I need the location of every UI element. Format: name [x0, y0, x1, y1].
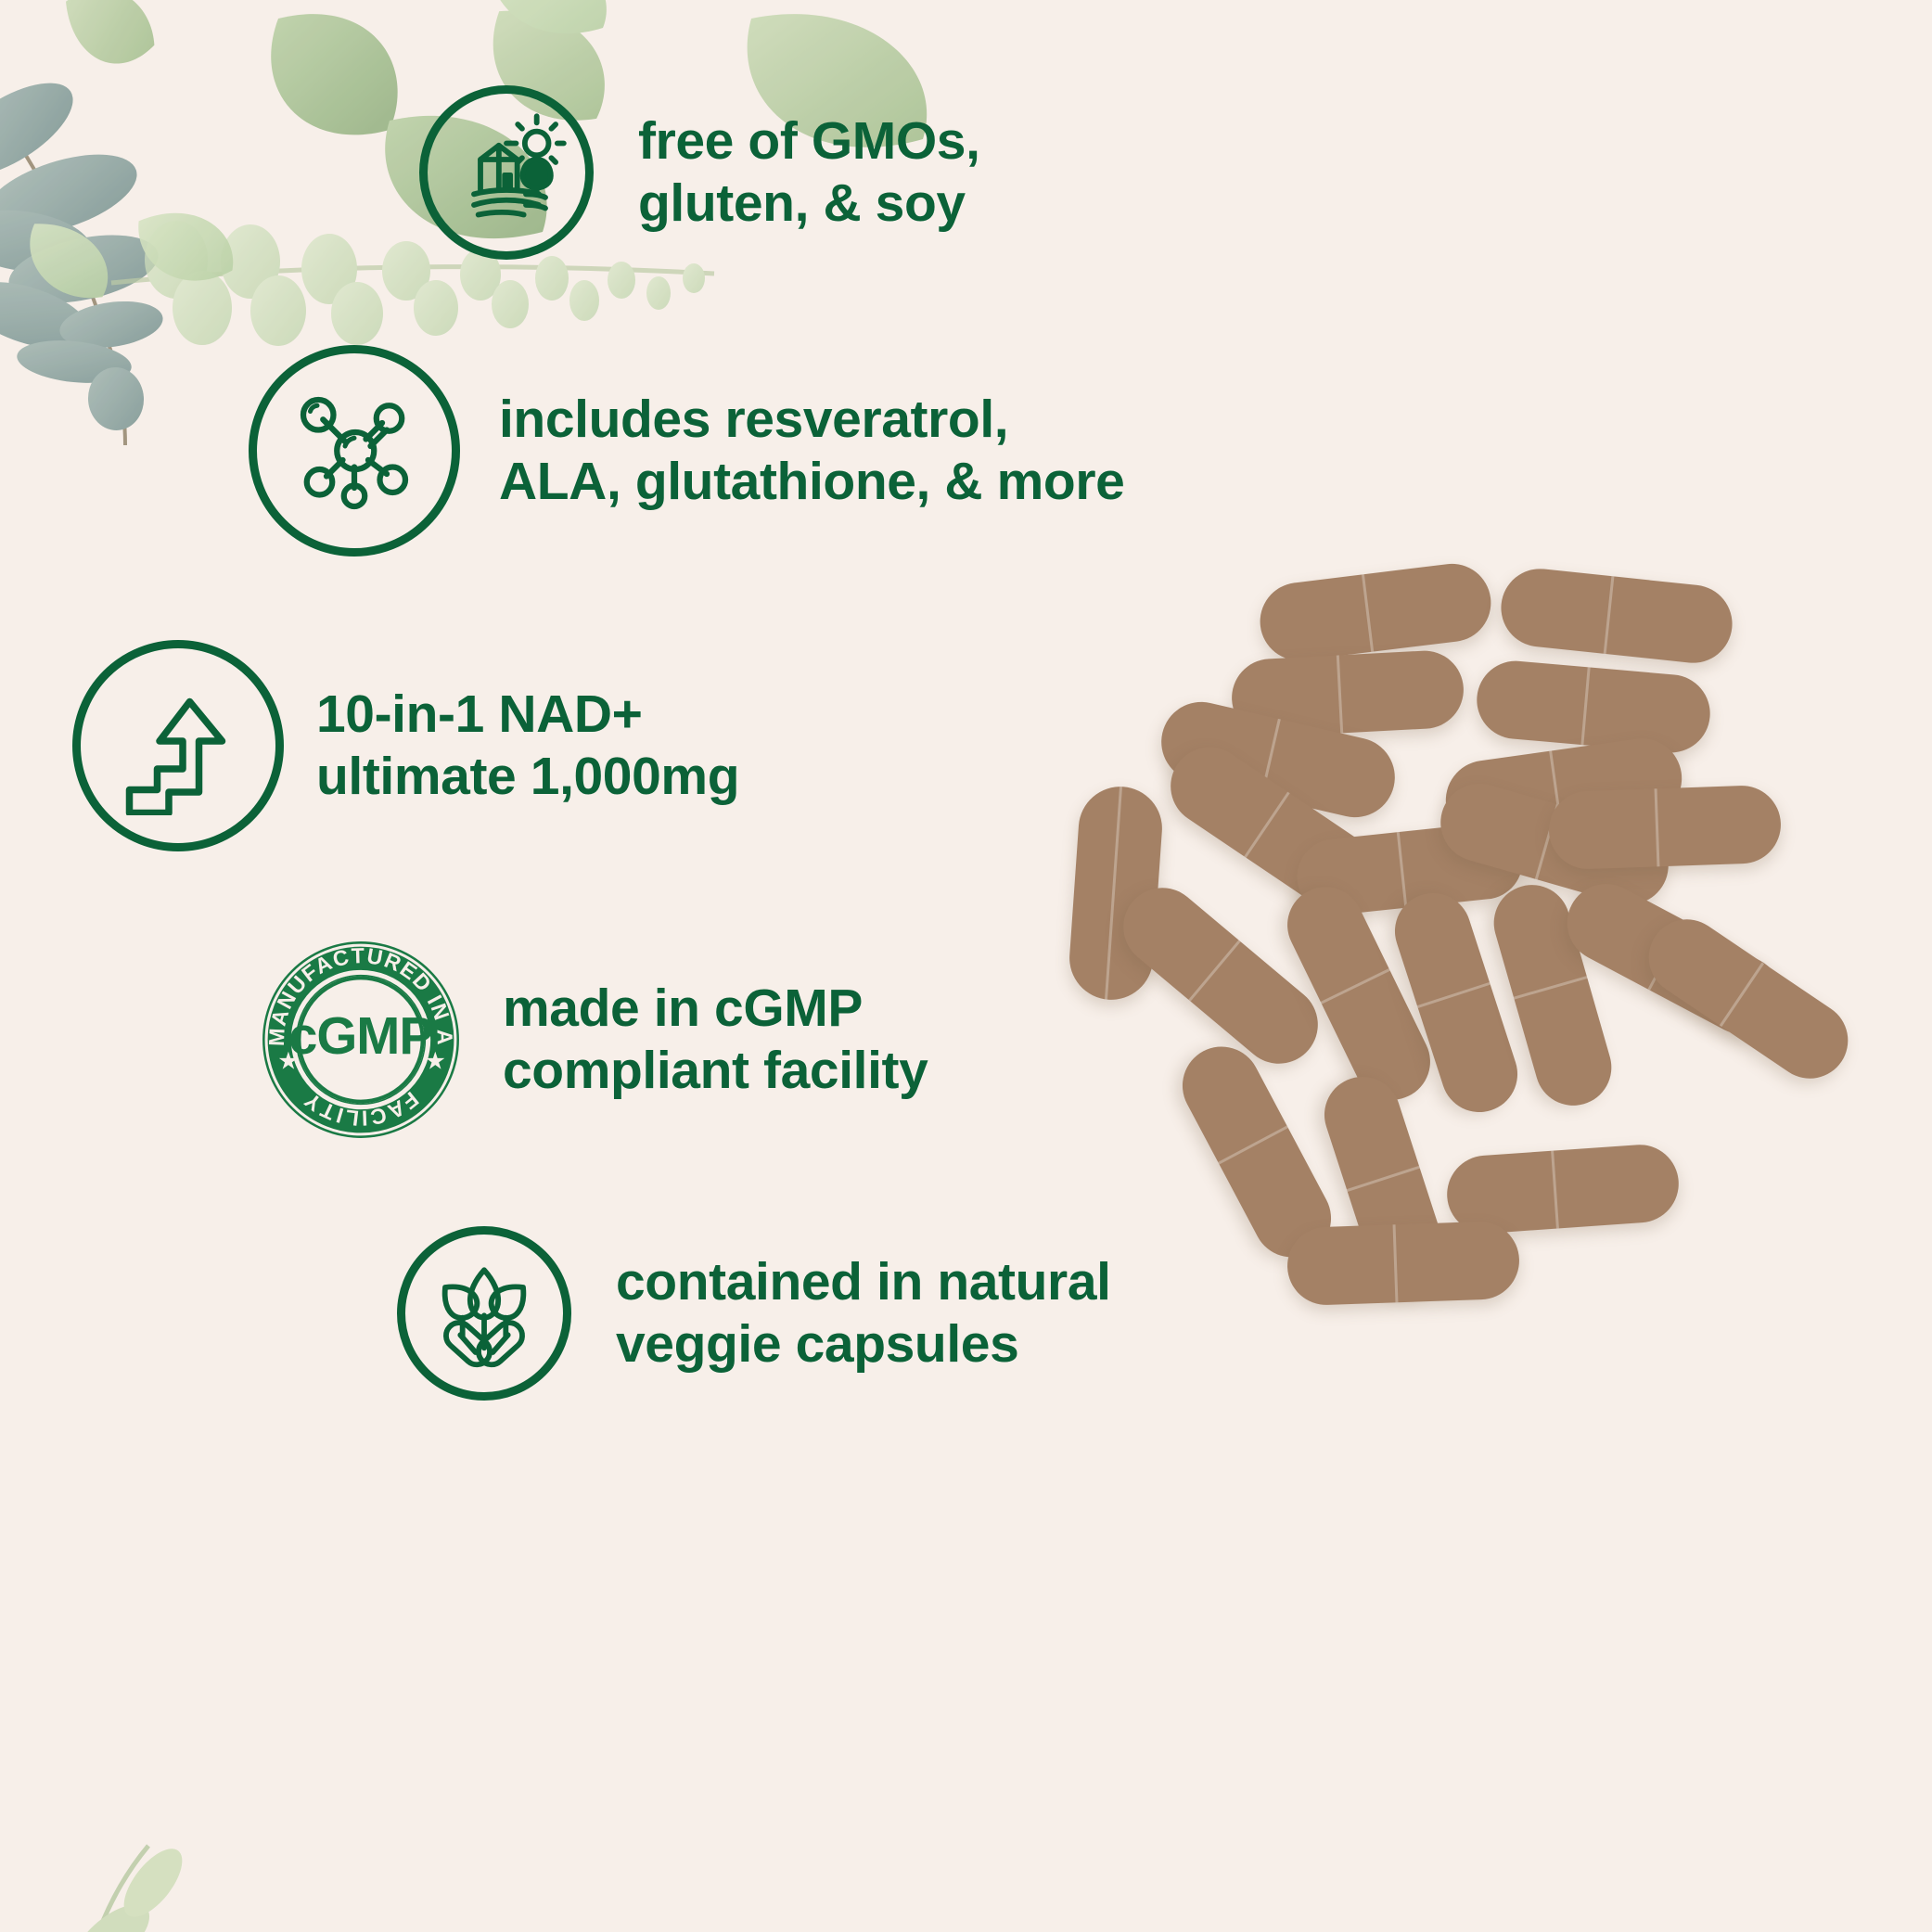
feature-label-gmo: free of GMOs, gluten, & soy	[638, 110, 980, 234]
capsule	[1497, 565, 1735, 667]
feature-row-capsules: contained in natural veggie capsules	[397, 1226, 1111, 1401]
leaves-and-capsules-icon	[397, 1226, 571, 1401]
cgmp-center-text: cGMP	[288, 1006, 433, 1065]
feature-row-nad: 10-in-1 NAD+ ultimate 1,000mg	[72, 640, 739, 851]
upward-staircase-arrow-icon	[72, 640, 284, 851]
farm-house-sun-icon	[419, 85, 594, 260]
nad-supplement-capsule-pile	[1057, 557, 1799, 1354]
feature-row-cgmp: MANUFACTURED IN A FACILITY ★ ★ cGMP made…	[258, 937, 928, 1143]
capsule	[1256, 559, 1495, 665]
bottom-left-foliage-decoration	[0, 1818, 427, 1932]
infographic-canvas: free of GMOs, gluten, & soy	[0, 0, 1932, 1932]
capsule	[1474, 658, 1713, 756]
cgmp-seal-icon: MANUFACTURED IN A FACILITY ★ ★ cGMP	[258, 937, 464, 1143]
feature-row-ingredients: includes resveratrol, ALA, glutathione, …	[249, 345, 1124, 557]
capsule	[1286, 1221, 1521, 1307]
feature-label-capsules: contained in natural veggie capsules	[616, 1251, 1111, 1375]
feature-label-cgmp: made in cGMP compliant facility	[503, 978, 928, 1101]
feature-label-nad: 10-in-1 NAD+ ultimate 1,000mg	[316, 684, 739, 807]
capsule	[1548, 785, 1783, 871]
feature-label-ingredients: includes resveratrol, ALA, glutathione, …	[499, 389, 1124, 512]
feature-row-gmo: free of GMOs, gluten, & soy	[419, 85, 980, 260]
molecule-icon	[249, 345, 460, 557]
